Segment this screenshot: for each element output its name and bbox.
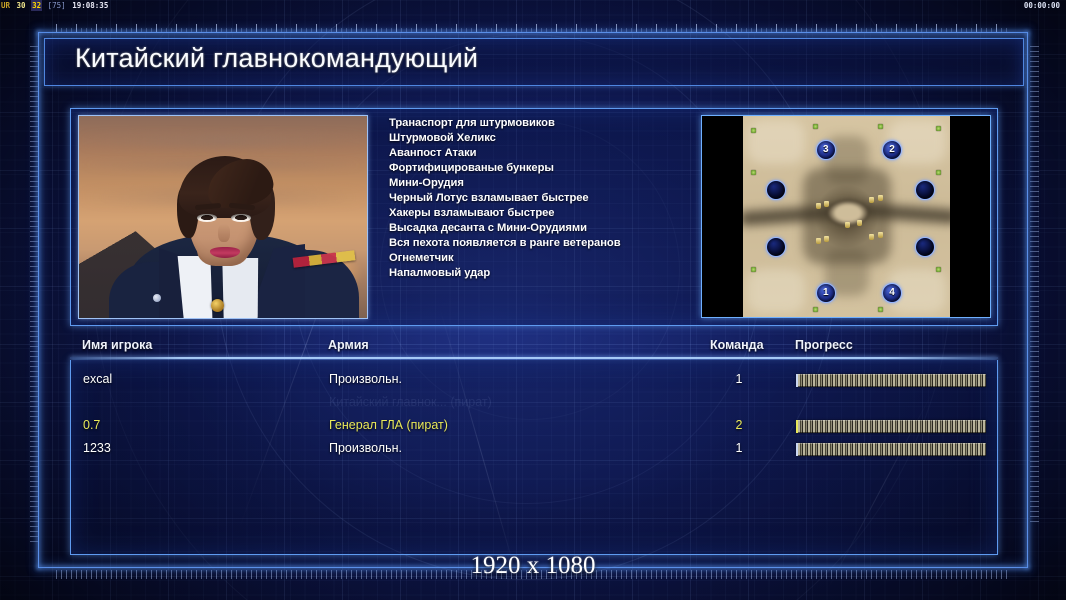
player-army: Произвольн. [329,441,402,455]
general-info-panel: Транаспорт для штурмовиковШтурмовой Хели… [70,108,998,326]
top-status-bar: UR 30 32 [75] 19:08:35 [0,0,1066,11]
player-name: 1233 [83,441,111,455]
map-resource-marker [936,126,941,131]
player-team: 1 [711,372,767,386]
map-start-position[interactable] [766,237,786,257]
map-resource-marker [813,307,818,312]
progress-bar [796,374,986,387]
column-header-army: Армия [328,338,369,352]
map-start-position[interactable]: 3 [816,140,836,160]
map-image: 3214 [743,116,950,317]
player-army: Произвольн. [329,372,402,386]
ability-item: Огнеметчик [389,251,687,266]
map-start-position[interactable] [766,180,786,200]
map-resource-marker [751,170,756,175]
resolution-label: 1920 x 1080 [0,552,1066,580]
ability-list: Транаспорт для штурмовиковШтурмовой Хели… [389,116,687,282]
map-resource-marker [936,170,941,175]
player-table-header: Имя игрока Армия Команда Прогресс [70,338,998,358]
map-resource-marker [751,267,756,272]
map-start-position[interactable] [915,237,935,257]
page-title: Китайский главнокомандующий [75,43,478,74]
player-name: excal [83,372,112,386]
player-team: 2 [711,418,767,432]
map-oil-marker [824,201,829,207]
map-oil-marker [878,232,883,238]
table-row[interactable]: 0.7Генерал ГЛА (пират)2 [71,416,997,439]
title-panel: Китайский главнокомандующий [44,38,1024,86]
map-oil-marker [869,234,874,240]
map-start-position[interactable] [915,180,935,200]
map-oil-marker [824,236,829,242]
player-table: excalПроизвольн.1Китайский главнок... (п… [70,360,998,555]
player-progress [796,443,986,456]
player-progress [796,374,986,387]
map-resource-marker [751,128,756,133]
map-start-position[interactable]: 4 [882,283,902,303]
progress-bar [796,420,986,433]
map-preview: 3214 [701,115,991,318]
map-oil-marker [857,220,862,226]
player-team: 1 [711,441,767,455]
ability-item: Хакеры взламывают быстрее [389,206,687,221]
player-army: Китайский главнок... (пират) [329,395,492,409]
map-oil-marker [816,203,821,209]
ability-item: Мини-Орудия [389,176,687,191]
player-progress [796,397,986,410]
status-bracket: [75] [47,0,67,11]
ability-item: Аванпост Атаки [389,146,687,161]
table-row[interactable]: 1233Произвольн.1 [71,439,997,462]
column-header-name: Имя игрока [82,338,152,352]
ability-item: Фортифицированые бункеры [389,161,687,176]
map-oil-marker [816,238,821,244]
map-start-position[interactable]: 1 [816,283,836,303]
general-portrait [78,115,368,319]
ability-item: Транаспорт для штурмовиков [389,116,687,131]
table-row[interactable]: Китайский главнок... (пират) [71,393,997,416]
map-resource-marker [878,307,883,312]
map-resource-marker [936,267,941,272]
progress-bar [796,443,986,456]
player-army: Генерал ГЛА (пират) [329,418,448,432]
column-header-progress: Прогресс [795,338,853,352]
map-oil-marker [878,195,883,201]
column-header-team: Команда [710,338,764,352]
player-name: 0.7 [83,418,100,432]
ability-item: Штурмовой Хеликс [389,131,687,146]
table-row[interactable]: excalПроизвольн.1 [71,370,997,393]
map-resource-marker [878,124,883,129]
ability-item: Черный Лотус взламывает быстрее [389,191,687,206]
status-value-1: 30 [16,0,27,11]
ability-item: Вся пехота появляется в ранге ветеранов [389,236,687,251]
map-oil-marker [845,222,850,228]
table-header-divider [70,357,998,359]
ruler-right [1030,46,1039,524]
status-prefix: UR [0,0,11,11]
map-resource-marker [813,124,818,129]
status-value-2: 32 [31,0,42,11]
ability-item: Высадка десанта с Мини-Орудиями [389,221,687,236]
progress-bar [796,397,986,410]
status-clock: 19:08:35 [71,0,109,11]
player-progress [796,420,986,433]
top-right-clock: 00:00:00 [1024,0,1060,11]
ability-item: Напалмовый удар [389,266,687,281]
